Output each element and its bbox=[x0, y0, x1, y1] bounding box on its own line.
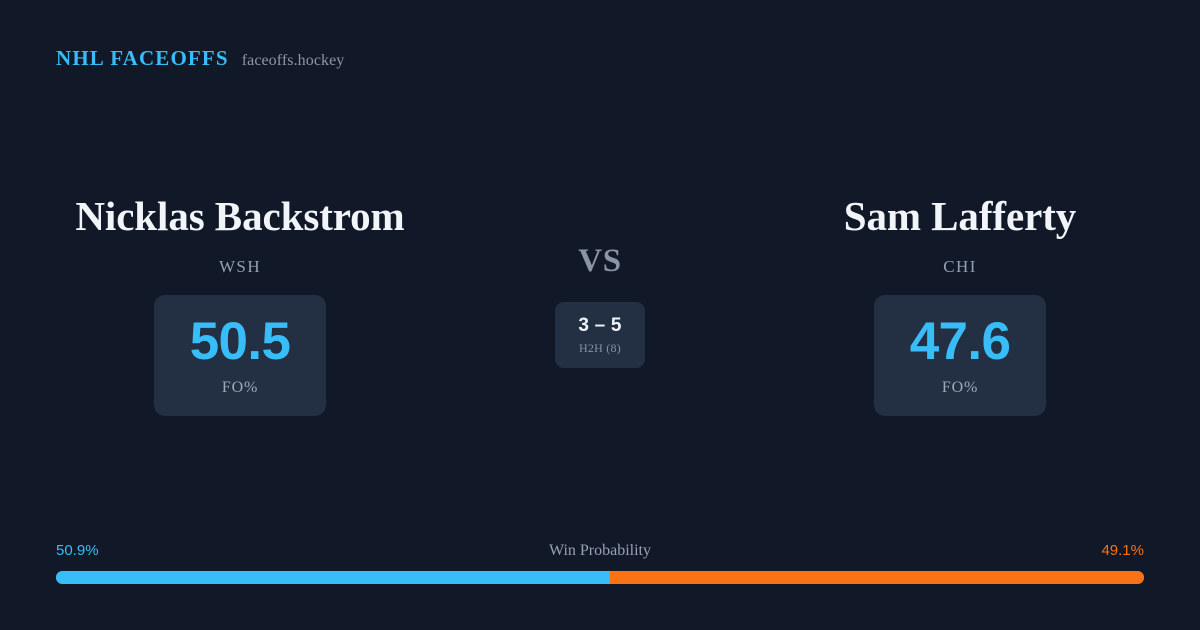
head-to-head-score: 3 – 5 bbox=[578, 315, 621, 337]
versus-label: VS bbox=[578, 242, 622, 280]
player-name-right: Sam Lafferty bbox=[844, 186, 1076, 246]
stat-value-right: 47.6 bbox=[910, 313, 1011, 371]
stat-label-right: FO% bbox=[942, 378, 978, 398]
player-column-left: Nicklas Backstrom WSH 50.5 FO% bbox=[0, 186, 480, 416]
win-probability-title: Win Probability bbox=[56, 540, 1144, 562]
player-name-left: Nicklas Backstrom bbox=[75, 186, 404, 246]
stat-card-right: 47.6 FO% bbox=[874, 295, 1046, 416]
stat-value-left: 50.5 bbox=[190, 313, 291, 371]
stat-label-left: FO% bbox=[222, 378, 258, 398]
head-to-head-card: 3 – 5 H2H (8) bbox=[555, 302, 645, 368]
win-probability-bar bbox=[56, 571, 1144, 584]
win-probability-bar-left-segment bbox=[56, 571, 610, 584]
win-probability-right-value: 49.1% bbox=[1101, 540, 1144, 562]
versus-column: VS 3 – 5 H2H (8) bbox=[480, 186, 720, 368]
player-team-left: WSH bbox=[219, 256, 261, 278]
win-probability-bar-right-segment bbox=[610, 571, 1144, 584]
win-probability-section: 50.9% Win Probability 49.1% bbox=[56, 540, 1144, 584]
stat-card-left: 50.5 FO% bbox=[154, 295, 326, 416]
brand-domain: faceoffs.hockey bbox=[242, 52, 345, 70]
player-column-right: Sam Lafferty CHI 47.6 FO% bbox=[720, 186, 1200, 416]
head-to-head-label: H2H (8) bbox=[579, 341, 621, 356]
brand-title: NHL FACEOFFS bbox=[56, 46, 229, 71]
player-team-right: CHI bbox=[943, 256, 977, 278]
win-probability-labels: 50.9% Win Probability 49.1% bbox=[56, 540, 1144, 562]
site-header: NHL FACEOFFS faceoffs.hockey bbox=[56, 46, 344, 71]
matchup-section: Nicklas Backstrom WSH 50.5 FO% VS 3 – 5 … bbox=[0, 186, 1200, 416]
